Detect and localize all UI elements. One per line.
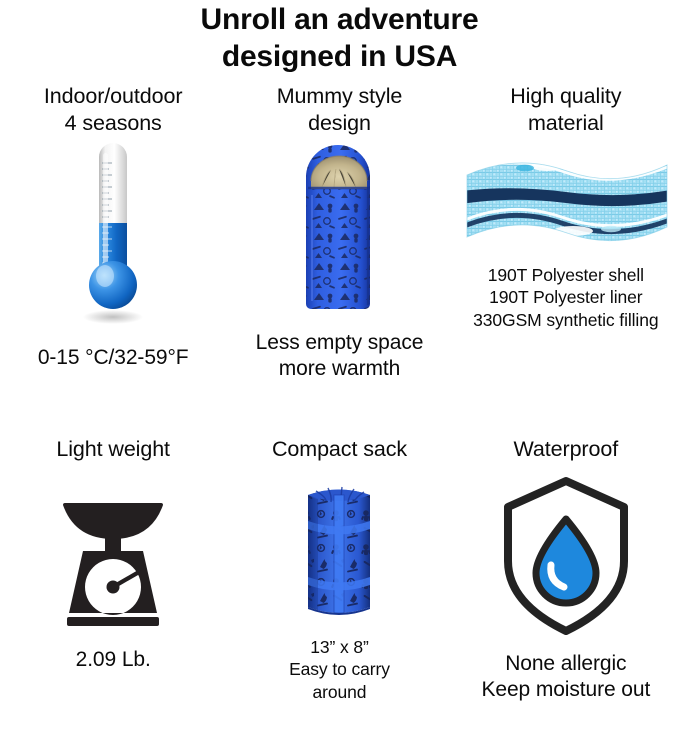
feature-grid: Indoor/outdoor 4 seasons	[0, 75, 679, 703]
feature-heading: High quality material	[510, 83, 621, 137]
feature-heading: Indoor/outdoor 4 seasons	[44, 83, 182, 137]
fabric-swatch-icon	[461, 141, 671, 256]
shield-waterdrop-icon	[491, 473, 641, 643]
thermometer-icon	[63, 141, 163, 331]
feature-heading: Mummy style design	[277, 83, 403, 137]
feature-heading: Light weight	[56, 436, 170, 463]
page-title-line-1: Unroll an adventure	[0, 2, 679, 39]
kitchen-scale-icon	[53, 473, 173, 633]
feature-cell-mummy-style: Mummy style design	[226, 75, 452, 430]
feature-caption: 0-15 °C/32-59°F	[38, 345, 189, 371]
feature-cell-compact-sack: Compact sack	[226, 430, 452, 703]
sleeping-bag-icon	[284, 141, 394, 316]
feature-cell-light-weight: Light weight	[0, 430, 226, 703]
compression-sack-icon	[284, 473, 394, 628]
feature-cell-indoor-outdoor: Indoor/outdoor 4 seasons	[0, 75, 226, 430]
feature-heading: Waterproof	[514, 436, 619, 463]
page-title-line-2: designed in USA	[0, 39, 679, 76]
feature-caption: 190T Polyester shell 190T Polyester line…	[473, 264, 658, 331]
product-feature-infographic: Unroll an adventure designed in USA Indo…	[0, 0, 679, 738]
feature-caption: Less empty space more warmth	[256, 330, 424, 381]
feature-caption: None allergic Keep moisture out	[481, 651, 650, 702]
feature-heading: Compact sack	[272, 436, 407, 463]
feature-cell-high-quality-material: High quality material	[453, 75, 679, 430]
feature-caption: 2.09 Lb.	[76, 647, 151, 673]
feature-caption: 13” x 8” Easy to carry around	[289, 636, 390, 703]
feature-cell-waterproof: Waterproof None allergic Keep moisture o…	[453, 430, 679, 703]
page-title: Unroll an adventure designed in USA	[0, 0, 679, 75]
